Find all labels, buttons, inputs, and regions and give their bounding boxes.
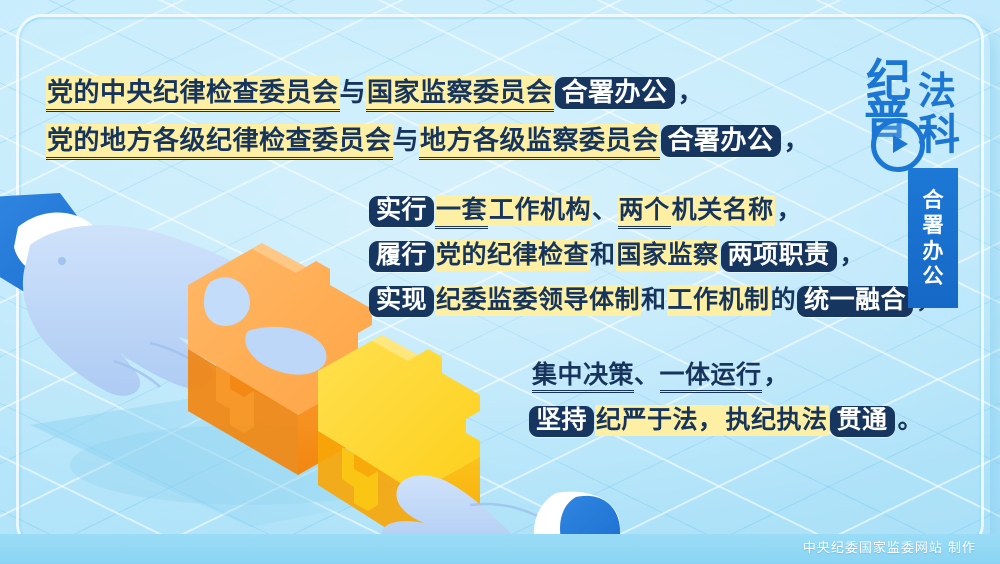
line-1-badge: 合署办公: [555, 77, 675, 109]
line-4-seg-3: 和: [590, 242, 616, 269]
line-7-seg-3: 执纪执法: [725, 405, 829, 436]
line-4-badge-1: 履行: [369, 241, 434, 272]
line-1-seg-1: 党的中央纪律检查委员会: [46, 76, 340, 112]
line-5-seg-4: 工作机制: [667, 285, 771, 316]
line-3-seg-5: 两个: [618, 195, 671, 229]
line-5-badge-1: 实现: [369, 286, 434, 317]
line-2-seg-1: 党的地方各级纪律检查委员会: [46, 124, 393, 160]
line-3-seg-3: 工作机构: [488, 195, 592, 226]
banner-char-1: 合: [923, 189, 944, 211]
banner-char-3: 办: [923, 240, 944, 262]
text-content-block: 党的中央纪律检查委员会与国家监察委员会合署办公， 党的地方各级纪律检查委员会与地…: [0, 0, 1000, 564]
line-2-badge: 合署办公: [661, 125, 781, 157]
line-1-seg-2: 与: [340, 78, 367, 107]
line-6-seg-1: 集中决策: [532, 362, 634, 393]
line-6: 集中决策、一体运行，: [532, 355, 789, 391]
banner-char-2: 署: [923, 214, 944, 236]
poster-canvas: 党的中央纪律检查委员会与国家监察委员会合署办公， 党的地方各级纪律检查委员会与地…: [0, 0, 1000, 564]
line-2-punctuation: ，: [782, 126, 811, 155]
line-4: 履行党的纪律检查和国家监察两项职责，: [368, 235, 865, 272]
line-3-punctuation: ，: [775, 197, 803, 224]
line-4-seg-2: 党的纪律检查: [435, 240, 590, 271]
line-1-punctuation: ，: [676, 78, 705, 107]
line-3-badge: 实行: [369, 196, 434, 227]
play-triangle: [893, 135, 908, 153]
line-6-seg-2: 、: [634, 362, 660, 389]
line-7: 坚持纪严于法，执纪执法贯通。: [528, 400, 923, 437]
credit-text: 中央纪委国家监委网站 制作: [803, 537, 976, 556]
line-2: 党的地方各级纪律检查委员会与地方各级监察委员会合署办公，: [46, 120, 810, 157]
banner-char-4: 公: [923, 265, 944, 287]
line-3: 实行一套工作机构、两个机关名称，: [368, 190, 802, 227]
line-4-badge-2: 两项职责: [721, 241, 837, 272]
line-4-punctuation: ，: [838, 242, 866, 269]
line-5-seg-3: 和: [641, 287, 667, 314]
line-6-seg-3: 一体运行: [660, 362, 762, 393]
line-3-seg-6: 机关名称: [671, 195, 775, 226]
play-icon: [871, 118, 925, 172]
line-4-seg-4: 国家监察: [616, 240, 720, 271]
line-6-punctuation: ，: [762, 362, 790, 389]
line-3-seg-4: 、: [592, 197, 618, 224]
line-5-seg-5: 的: [771, 287, 797, 314]
line-5: 实现纪委监委领导体制和工作机制的统一融合，: [368, 280, 942, 317]
line-7-seg-2: 纪严于法，: [595, 405, 725, 436]
vertical-title-banner: 合 署 办 公: [908, 168, 958, 308]
line-5-seg-2: 纪委监委领导体制: [435, 285, 641, 316]
line-3-seg-2: 一套: [435, 195, 488, 229]
program-logo[interactable]: 纪 法 普 科: [862, 56, 974, 174]
line-1: 党的中央纪律检查委员会与国家监察委员会合署办公，: [46, 72, 704, 109]
line-7-badge-1: 坚持: [529, 406, 594, 437]
line-1-seg-3: 国家监察委员会: [366, 76, 554, 112]
line-2-seg-3: 地方各级监察委员会: [419, 124, 660, 160]
line-5-badge-2: 统一融合: [797, 286, 913, 317]
line-2-seg-2: 与: [393, 126, 420, 155]
line-7-punctuation: 。: [896, 407, 924, 434]
line-7-badge-2: 贯通: [830, 406, 895, 437]
logo-char-fa: 法: [918, 72, 956, 110]
